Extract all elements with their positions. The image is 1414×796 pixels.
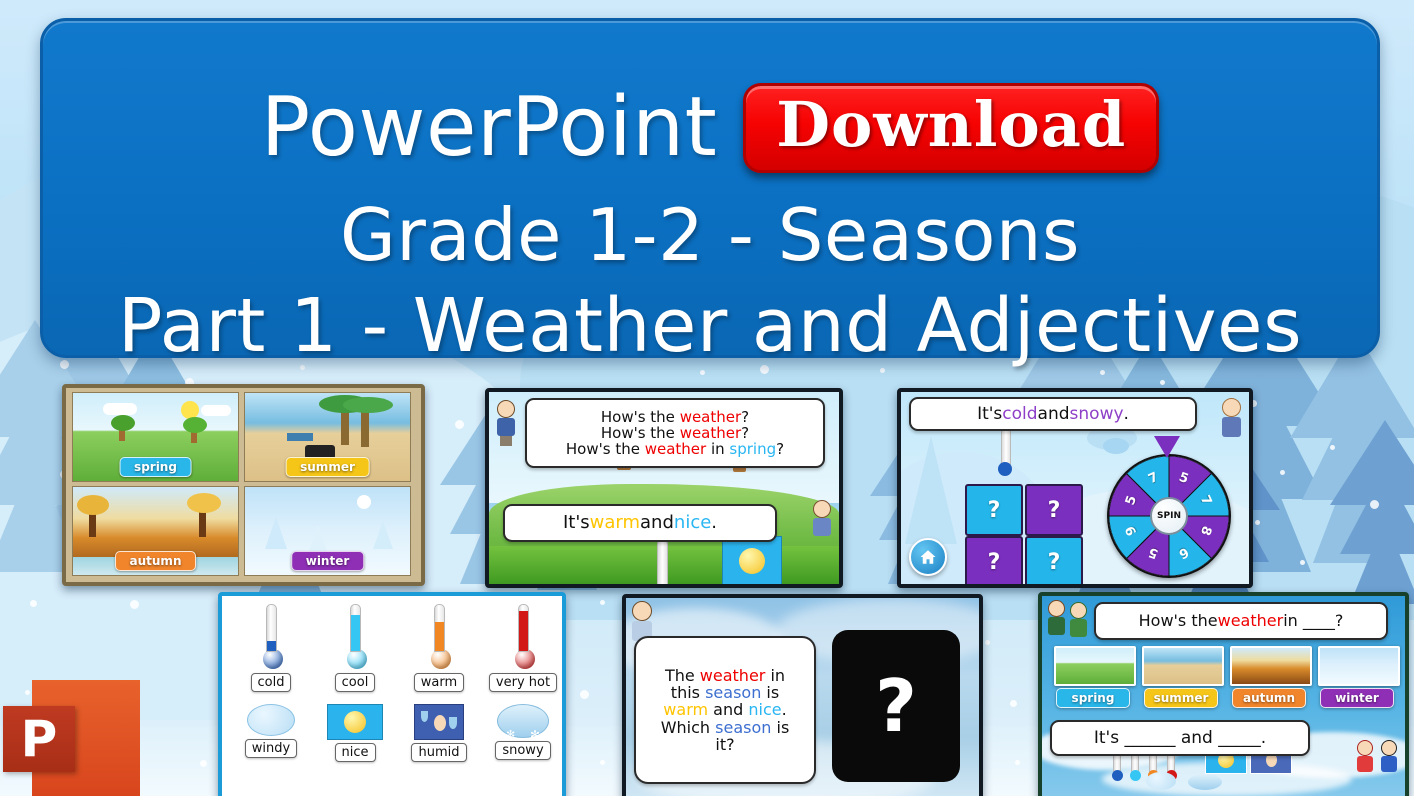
snowy-tree <box>905 436 957 544</box>
bubble-line: this season is <box>671 684 779 701</box>
snowflake <box>700 370 705 375</box>
snowflake <box>200 760 207 767</box>
title-banner: PowerPoint Download Grade 1-2 - Seasons … <box>40 18 1380 358</box>
text-run-highlight: warm <box>590 513 640 532</box>
bubble-line: Which season is <box>661 719 790 736</box>
text-run-highlight: snowy <box>1070 405 1124 423</box>
thumbnail-fill-in-the-blanks[interactable]: How's the weather in ____? springsummera… <box>1038 592 1409 796</box>
thermometer-tile[interactable]: cool <box>316 604 394 692</box>
season-cell[interactable]: summer <box>244 392 411 482</box>
weather-word-label: snowy <box>495 741 550 760</box>
bubble-line: warm and nice. <box>663 701 786 718</box>
thermometer-icon <box>347 604 363 669</box>
bubble-line: How's the weather? <box>601 409 749 425</box>
bubble-line: How's the weather in spring? <box>566 441 784 457</box>
text-run-highlight: nice <box>674 513 711 532</box>
season-label: summer <box>285 457 370 477</box>
text-run: It's <box>563 513 590 532</box>
text-run: in <box>706 440 729 458</box>
text-run: ? <box>776 440 784 458</box>
bubble-line: it? <box>715 736 734 753</box>
text-run-highlight: nice <box>748 700 781 719</box>
thermometer-tile[interactable]: cold <box>232 604 310 692</box>
banner-subtitle-part: Part 1 - Weather and Adjectives <box>43 283 1377 369</box>
wind-cloud-icon <box>1146 772 1176 790</box>
girl-character <box>811 500 833 544</box>
thermometer-icon <box>263 604 279 669</box>
text-run: It's <box>977 405 1002 423</box>
banner-subtitle-grade: Grade 1-2 - Seasons <box>43 193 1377 277</box>
snow-cloud-icon: ✻✻ <box>484 704 562 738</box>
question-tile[interactable]: ? <box>1025 536 1083 584</box>
thermometer-tile[interactable]: very hot <box>484 604 562 692</box>
question-tile[interactable]: ? <box>965 536 1023 584</box>
weather-word-label: humid <box>411 743 466 762</box>
download-button[interactable]: Download <box>743 83 1159 173</box>
thumbnail-four-seasons-grid[interactable]: springsummerautumnwinter <box>62 384 425 586</box>
boy-character <box>495 400 517 444</box>
text-run: How's the <box>566 440 645 458</box>
weather-icon-tile[interactable]: nice <box>316 704 394 762</box>
text-run: . <box>782 700 787 719</box>
season-label[interactable]: summer <box>1144 688 1218 708</box>
text-run-highlight: cold <box>1002 405 1037 423</box>
text-run-highlight: weather <box>1218 612 1284 629</box>
sun-icon <box>316 704 394 740</box>
text-run: and <box>640 513 674 532</box>
snow-cloud <box>1103 438 1129 454</box>
text-run: in ____? <box>1283 612 1343 629</box>
thermometer-icon <box>657 540 668 584</box>
snowflake <box>1280 470 1285 475</box>
question-tile[interactable]: ? <box>965 484 1023 536</box>
text-run: . <box>1124 405 1129 423</box>
text-run: and <box>708 700 748 719</box>
snowflake <box>985 640 990 645</box>
weather-icon-tile[interactable]: windy <box>232 704 310 758</box>
download-label: Download <box>776 88 1126 161</box>
season-cell[interactable]: winter <box>244 486 411 576</box>
question-speech-bubble: How's the weather in ____? <box>1094 602 1388 640</box>
text-run: . <box>711 513 717 532</box>
season-label: autumn <box>115 551 197 571</box>
season-label: winter <box>291 551 365 571</box>
mystery-question-mark: ? <box>875 664 917 748</box>
text-run-highlight: spring <box>729 440 776 458</box>
question-speech-bubble: How's the weather?How's the weather?How'… <box>525 398 825 468</box>
weather-word-label: windy <box>245 739 297 758</box>
girl-character <box>1219 398 1243 446</box>
snowflake <box>1255 520 1260 525</box>
thumbnail-which-season-quiz[interactable]: The weather inthis season iswarm and nic… <box>622 594 983 796</box>
text-run: The <box>665 666 700 685</box>
text-run: and <box>1038 405 1070 423</box>
boy-character <box>1379 740 1399 778</box>
question-tile[interactable]: ? <box>1025 484 1083 536</box>
season-thumbnail[interactable] <box>1142 646 1224 686</box>
thermometer-tile[interactable]: warm <box>400 604 478 692</box>
text-run-highlight: weather <box>700 666 766 685</box>
answer-speech-bubble: It's ______ and _____. <box>1050 720 1310 756</box>
snowflake <box>30 600 37 607</box>
thumbnail-spring-dialogue[interactable]: How's the weather?How's the weather?How'… <box>485 388 843 588</box>
text-run: in <box>765 666 785 685</box>
thumbnail-weather-vocabulary[interactable]: coldcoolwarmvery hot windynicehumid✻✻sno… <box>218 592 566 796</box>
weather-word-label: nice <box>335 743 376 762</box>
snowflake <box>580 690 589 699</box>
snowflake <box>1010 700 1017 707</box>
mystery-answer-box[interactable]: ? <box>832 630 960 782</box>
spin-hub[interactable]: SPIN <box>1150 497 1188 535</box>
text-run: is <box>771 718 789 737</box>
weather-icon-tile[interactable]: ✻✻snowy <box>484 704 562 760</box>
sun-weather-icon <box>722 536 782 584</box>
season-cell[interactable]: autumn <box>72 486 239 576</box>
weather-word-label: cool <box>335 673 376 692</box>
snowflake <box>1100 370 1105 375</box>
answer-speech-bubble: It's cold and snowy. <box>909 397 1197 431</box>
text-run-highlight: weather <box>645 440 706 458</box>
snowflake <box>455 420 464 429</box>
text-run-highlight: season <box>715 718 771 737</box>
question-speech-bubble: The weather inthis season iswarm and nic… <box>634 636 816 784</box>
snowflake <box>600 600 605 605</box>
snow-cloud-icon <box>1188 774 1222 790</box>
season-thumbnail[interactable] <box>1318 646 1400 686</box>
text-run: it? <box>715 735 734 754</box>
spin-wheel[interactable]: 57865957 SPIN <box>1107 454 1231 578</box>
snowflake <box>130 600 139 609</box>
bubble-line: How's the weather? <box>601 425 749 441</box>
season-thumbnail[interactable] <box>1054 646 1136 686</box>
answer-speech-bubble: It's warm and nice. <box>503 504 777 542</box>
home-icon[interactable] <box>909 538 947 576</box>
thermometer-icon <box>431 604 447 669</box>
thumbnail-winter-spin-game[interactable]: It's cold and snowy. ???? 57865957 SPIN <box>897 388 1253 588</box>
snowflake <box>600 760 605 765</box>
text-run: It's ______ and _____. <box>1094 729 1266 747</box>
thermometer-icon <box>515 604 531 669</box>
text-run: How's the <box>1139 612 1218 629</box>
snowflake <box>1300 560 1305 565</box>
text-run-highlight: season <box>705 683 761 702</box>
season-label: spring <box>119 457 192 477</box>
weather-icon-tile[interactable]: humid <box>400 704 478 762</box>
snowflake <box>1330 445 1335 450</box>
season-cell[interactable]: spring <box>72 392 239 482</box>
season-label[interactable]: spring <box>1056 688 1130 708</box>
text-run-highlight: warm <box>663 700 708 719</box>
weather-word-label: warm <box>414 673 464 692</box>
snowflake <box>1015 760 1020 765</box>
boy-character <box>1068 602 1088 644</box>
powerpoint-logo: P <box>0 672 140 796</box>
banner-row-product: PowerPoint Download <box>43 65 1377 191</box>
slide-preview-canvas: PowerPoint Download Grade 1-2 - Seasons … <box>0 0 1414 796</box>
weather-word-label: cold <box>251 673 292 692</box>
season-label[interactable]: winter <box>1320 688 1394 708</box>
weather-word-label: very hot <box>489 673 557 692</box>
wheel-pointer <box>1154 436 1180 458</box>
text-run: Which <box>661 718 715 737</box>
thermometer-bulb <box>998 462 1012 476</box>
girl-character <box>1355 740 1375 778</box>
season-thumbnail[interactable] <box>1230 646 1312 686</box>
bubble-line: The weather in <box>665 667 785 684</box>
wind-cloud-icon <box>232 704 310 736</box>
girl-character <box>1046 600 1066 642</box>
text-run: is <box>761 683 779 702</box>
text-run: this <box>671 683 705 702</box>
season-label[interactable]: autumn <box>1232 688 1306 708</box>
snowflake <box>1160 380 1165 385</box>
spin-label: SPIN <box>1157 511 1181 521</box>
snowflake <box>1370 500 1379 509</box>
logo-tab: P <box>3 706 75 772</box>
rain-person-icon <box>400 704 478 740</box>
product-title: PowerPoint <box>261 87 718 169</box>
logo-letter: P <box>21 714 58 764</box>
